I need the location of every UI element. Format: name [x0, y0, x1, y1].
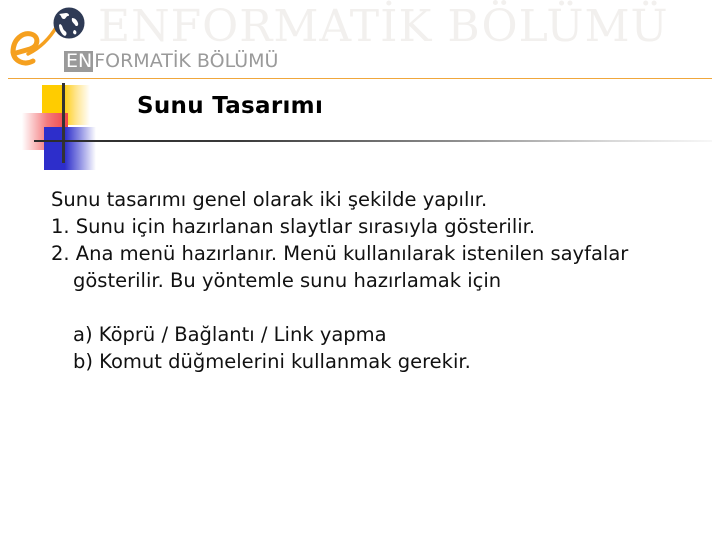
body-sub-item-a: a) Köprü / Bağlantı / Link yapma	[51, 321, 691, 348]
body-list-item-2-line-2: gösterilir. Bu yöntemle sunu hazırlamak …	[51, 267, 691, 294]
slide-header: ENFORMATİK BÖLÜMÜ ENFORMATİK BÖLÜMÜ	[0, 0, 720, 79]
body-list-item-2-line-1: 2. Ana menü hazırlanır. Menü kullanılara…	[51, 240, 691, 267]
body-intro-line: Sunu tasarımı genel olarak iki şekilde y…	[51, 186, 691, 213]
header-divider	[8, 78, 712, 79]
slide-content: Sunu tasarımı genel olarak iki şekilde y…	[51, 186, 691, 375]
body-list-item-1: 1. Sunu için hazırlanan slaytlar sırasıy…	[51, 213, 691, 240]
body-sub-item-b: b) Komut düğmelerini kullanmak gerekir.	[51, 348, 691, 375]
decor-square-blue	[44, 127, 96, 170]
brand-wordmark: ENFORMATİK BÖLÜMÜ	[64, 50, 278, 72]
page-title: Sunu Tasarımı	[137, 93, 323, 119]
title-underline	[34, 140, 712, 142]
globe-icon	[48, 4, 90, 46]
brand-rest-text: FORMATİK BÖLÜMÜ	[93, 52, 278, 71]
brand-prefix-box: EN	[64, 51, 93, 72]
body-spacer	[51, 294, 691, 321]
decor-vertical-line	[62, 83, 65, 163]
